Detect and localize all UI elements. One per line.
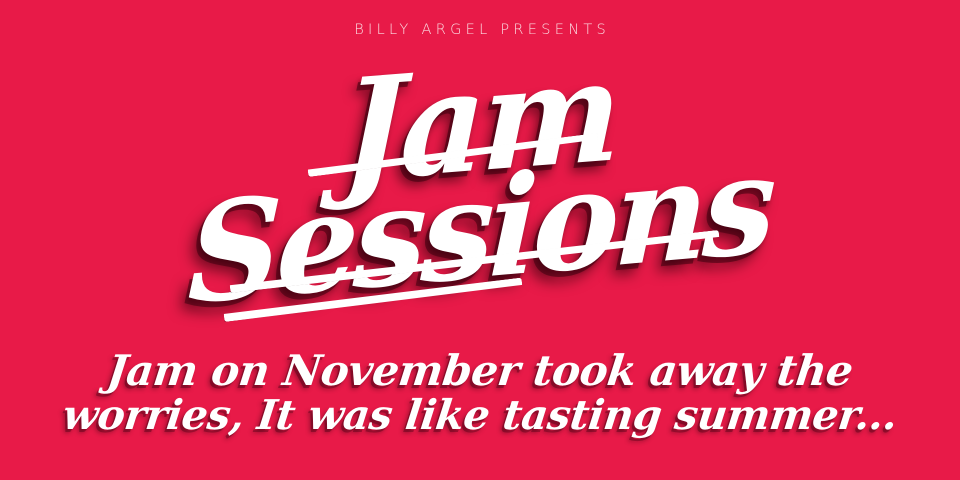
subtitle-line-1: Jam on November took away the (0, 348, 960, 393)
title-block: Jam Sessions (0, 0, 960, 340)
subtitle-block: Jam on November took away the worries, I… (0, 348, 960, 438)
subtitle-line-2: worries, It was like tasting summer... (0, 393, 960, 438)
poster-canvas: BILLY ARGEL PRESENTS Jam Sessions Jam on… (0, 0, 960, 480)
